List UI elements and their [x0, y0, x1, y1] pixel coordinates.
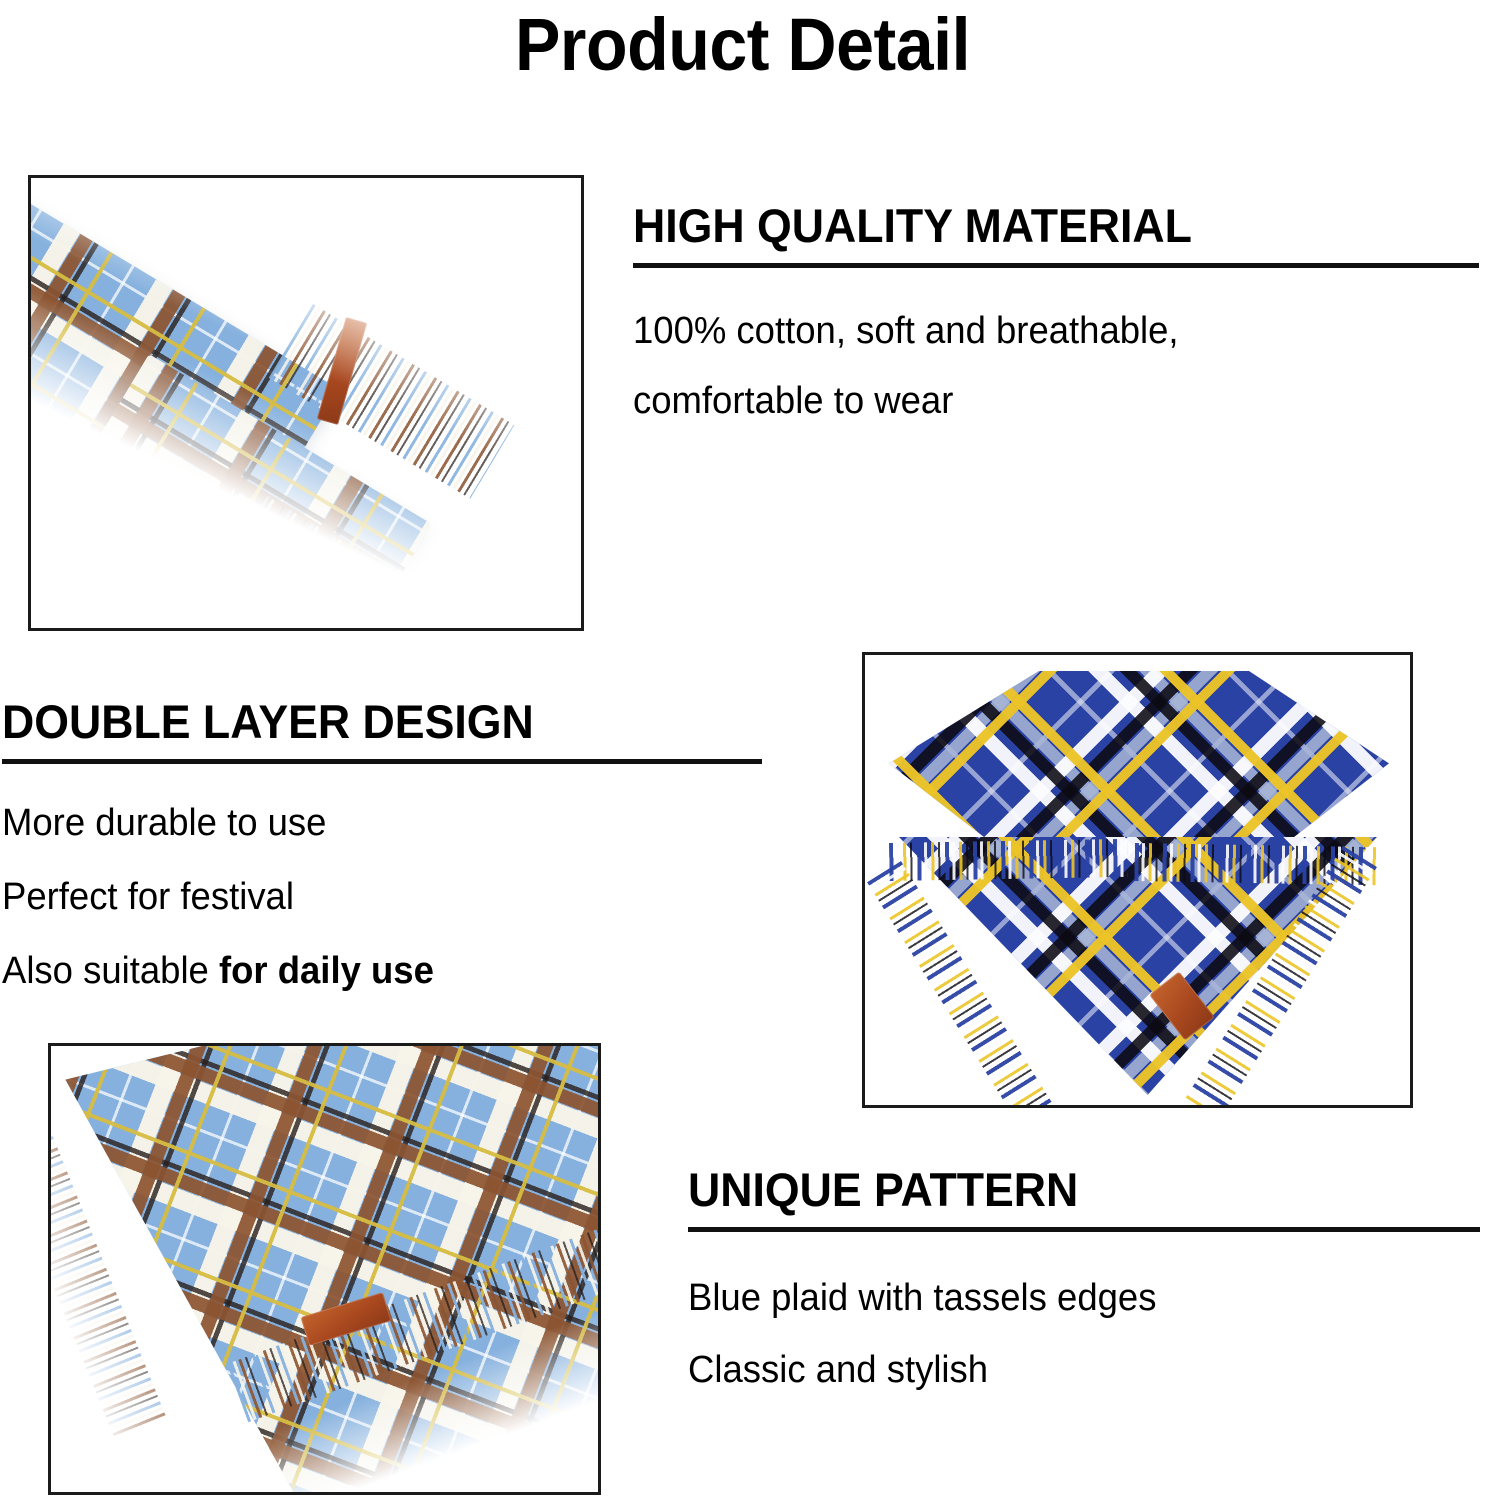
- section-double-layer-design: DOUBLE LAYER DESIGN More durable to use …: [2, 694, 762, 1008]
- heading-rule: [688, 1227, 1480, 1232]
- photo-stage: [51, 1046, 598, 1492]
- body-line: comfortable to wear: [633, 366, 1445, 436]
- body-line: 100% cotton, soft and breathable,: [633, 296, 1445, 366]
- heading-rule: [633, 263, 1479, 268]
- section-high-quality-material: HIGH QUALITY MATERIAL 100% cotton, soft …: [633, 198, 1479, 436]
- section-body: More durable to use Perfect for festival…: [2, 786, 762, 1008]
- photo-stage: [31, 178, 581, 628]
- photo-stage: [865, 655, 1410, 1105]
- section-heading-double-layer-design: DOUBLE LAYER DESIGN: [2, 694, 724, 750]
- section-unique-pattern: UNIQUE PATTERN Blue plaid with tassels e…: [688, 1162, 1480, 1406]
- section-body: Blue plaid with tassels edges Classic an…: [688, 1262, 1480, 1406]
- heading-rule: [2, 759, 762, 764]
- page-title: Product Detail: [59, 2, 1425, 88]
- fringe-edge-upper-left: [889, 839, 1128, 881]
- body-line: Classic and stylish: [688, 1334, 1448, 1406]
- section-heading-high-quality-material: HIGH QUALITY MATERIAL: [633, 198, 1437, 254]
- product-photo-royal-blue-bandana: [862, 652, 1413, 1108]
- body-line-mixed-weight: Also suitable for daily use: [2, 934, 732, 1008]
- body-line-bold-part: for daily use: [219, 950, 434, 992]
- body-line: Blue plaid with tassels edges: [688, 1262, 1448, 1334]
- body-line-normal-part: Also suitable: [2, 950, 219, 992]
- section-heading-unique-pattern: UNIQUE PATTERN: [688, 1162, 1440, 1218]
- body-line: Perfect for festival: [2, 860, 732, 934]
- body-line: More durable to use: [2, 786, 732, 860]
- product-photo-folded-light-blue-bandana: [28, 175, 584, 631]
- product-photo-plaid-corner-closeup: [48, 1043, 601, 1495]
- section-body: 100% cotton, soft and breathable, comfor…: [633, 296, 1479, 436]
